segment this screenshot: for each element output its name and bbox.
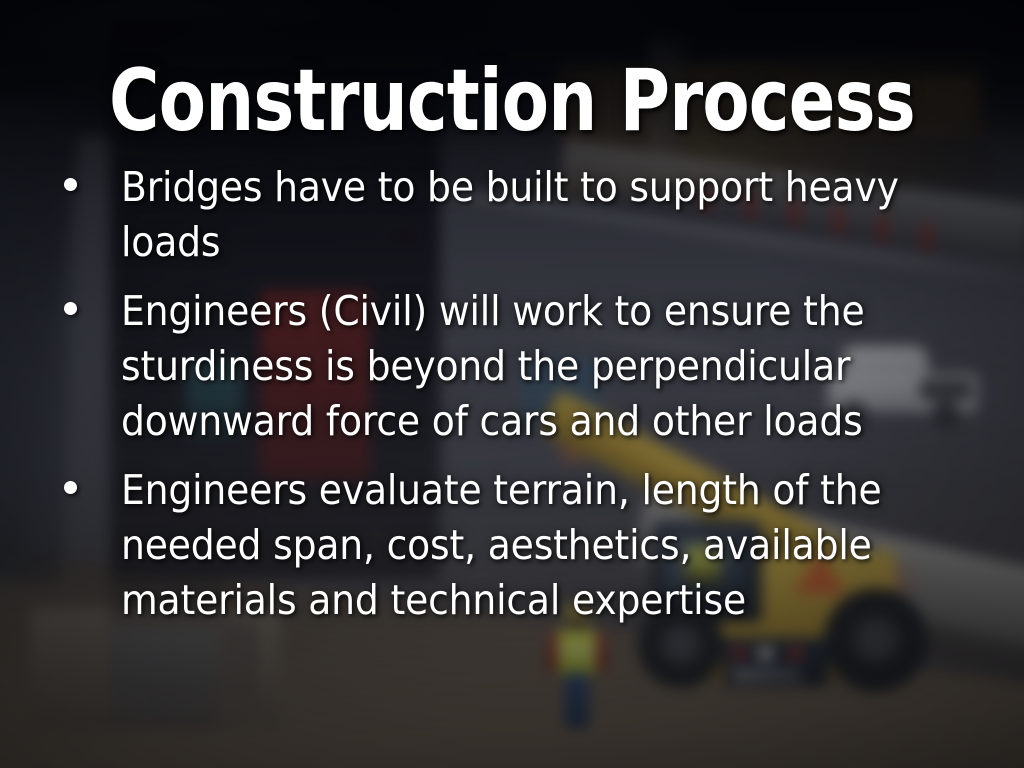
list-item: Engineers (Civil) will work to ensure th… <box>52 284 972 449</box>
page-title: Construction Process <box>102 58 921 144</box>
slide-content: Construction Process Bridges have to be … <box>0 0 1024 768</box>
bullet-dot-icon <box>64 481 77 494</box>
bullet-text: Engineers (Civil) will work to ensure th… <box>121 284 904 449</box>
bullet-text: Bridges have to be built to support heav… <box>121 160 904 270</box>
bullet-text: Engineers evaluate terrain, length of th… <box>121 463 904 628</box>
list-item: Engineers evaluate terrain, length of th… <box>52 463 972 628</box>
presentation-slide: Construction Process Bridges have to be … <box>0 0 1024 768</box>
bullet-list: Bridges have to be built to support heav… <box>52 160 972 642</box>
bullet-dot-icon <box>64 178 77 191</box>
list-item: Bridges have to be built to support heav… <box>52 160 972 270</box>
bullet-dot-icon <box>64 302 77 315</box>
